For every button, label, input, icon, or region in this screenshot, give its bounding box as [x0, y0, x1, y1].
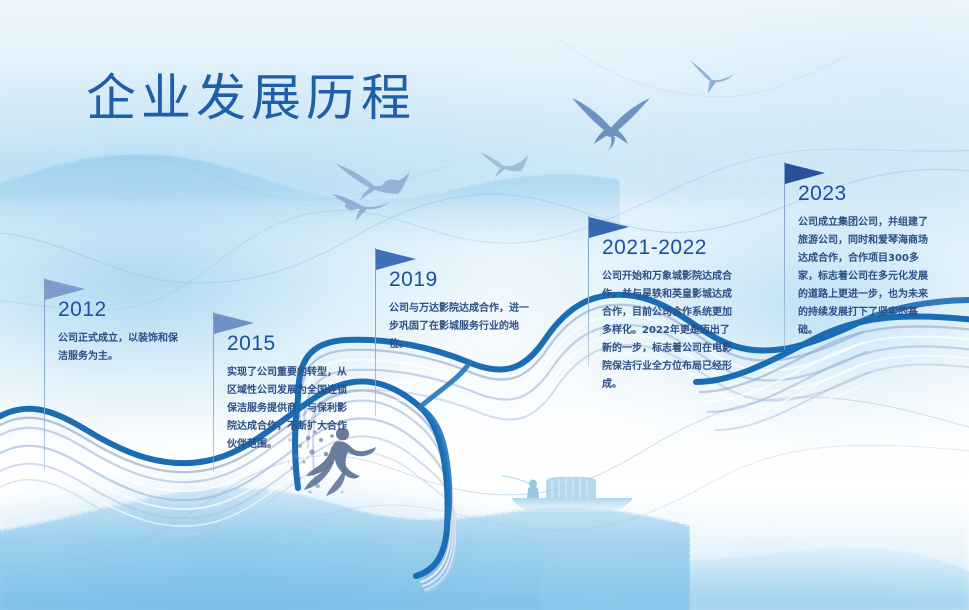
flagpole	[44, 278, 45, 470]
milestone-2021-2022[interactable]: 2021-2022 公司开始和万象城影院达成合作，并与星轶和英皇影城达成合作，目…	[588, 216, 778, 416]
mountain-ink-wash-upper-left	[0, 140, 620, 260]
milestone-2019[interactable]: 2019 公司与万达影院达成合作，进一步巩固了在影城服务行业的地位。	[375, 248, 555, 438]
bird-icon	[556, 92, 666, 154]
milestone-year: 2019	[389, 268, 438, 292]
milestone-2012[interactable]: 2012 公司正式成立，以装饰和保洁服务为主。	[44, 278, 224, 478]
bird-icon	[330, 160, 416, 204]
milestone-description: 公司正式成立，以装饰和保洁服务为主。	[58, 330, 184, 366]
milestone-year: 2012	[58, 298, 107, 322]
ink-wash-bottom-strip	[0, 490, 969, 610]
infographic-canvas: 2012 公司正式成立，以装饰和保洁服务为主。 2015 实现了公司重要的转型，…	[0, 0, 969, 610]
fishing-boat-icon	[500, 468, 645, 520]
ink-wash-bottom-right	[489, 490, 969, 610]
milestone-description: 实现了公司重要的转型，从区域性公司发展为全国连锁保洁服务提供商，与保利影院达成合…	[227, 364, 355, 454]
flagpole	[375, 248, 376, 416]
milestone-year: 2023	[798, 182, 847, 206]
flagpole	[784, 162, 785, 350]
bird-icon	[330, 188, 392, 222]
page-title: 企业发展历程	[86, 58, 416, 130]
milestone-2023[interactable]: 2023 公司成立集团公司，并组建了旅游公司，同时和爱琴海商场达成合作，合作项目…	[784, 162, 964, 382]
bird-icon	[690, 60, 734, 94]
milestone-description: 公司开始和万象城影院达成合作，并与星轶和英皇影城达成合作，目前公司合作系统更加多…	[602, 268, 732, 394]
milestone-description: 公司与万达影院达成合作，进一步巩固了在影城服务行业的地位。	[389, 300, 537, 354]
milestone-year: 2015	[227, 332, 276, 356]
flagpole	[213, 312, 214, 472]
milestone-description: 公司成立集团公司，并组建了旅游公司，同时和爱琴海商场达成合作，合作项目300多家…	[798, 214, 930, 340]
milestone-year: 2021-2022	[602, 236, 707, 260]
bird-icon	[478, 150, 528, 180]
milestone-2015[interactable]: 2015 实现了公司重要的转型，从区域性公司发展为全国连锁保洁服务提供商，与保利…	[213, 312, 393, 512]
mountain-ink-wash-bottom-right	[540, 520, 969, 610]
